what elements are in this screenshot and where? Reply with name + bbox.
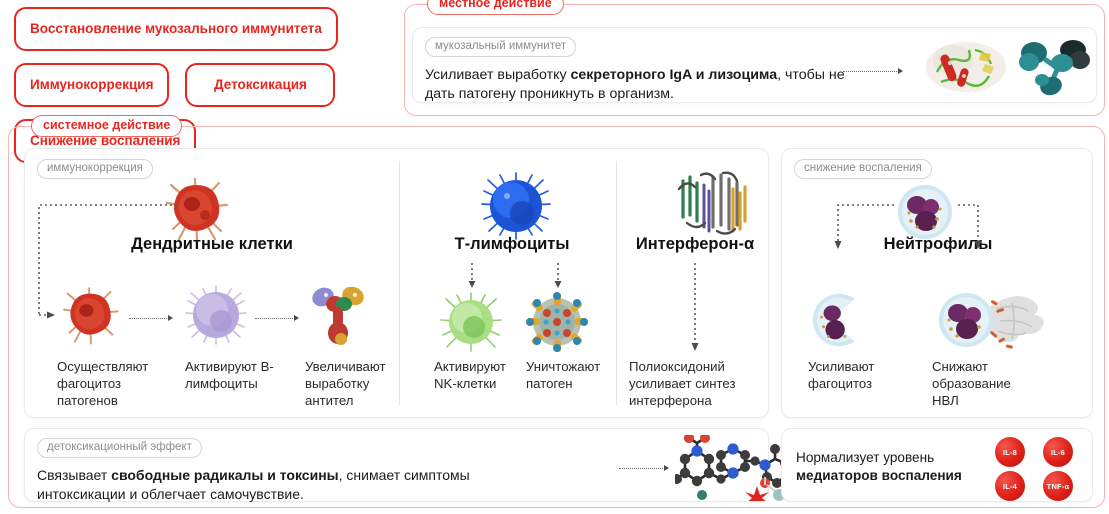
mucosal-immunity-description: Усиливает выработку секреторного IgA и л… xyxy=(425,66,855,104)
interferon-molecule-icon xyxy=(673,169,751,239)
dendritic-cell-step-icon xyxy=(57,282,123,348)
pill-mucosal-immunity-restoration[interactable]: Восстановление мукозального иммунитета xyxy=(14,7,338,51)
inflammation-mediators-card: Нормализует уровень медиаторов воспалени… xyxy=(781,428,1093,502)
iga-antibody-molecule-icon xyxy=(1016,36,1092,98)
column-divider-2 xyxy=(616,161,617,405)
badge-il8[interactable]: IL-8 xyxy=(995,437,1025,467)
interferon-title: Интерферон-α xyxy=(625,235,765,254)
t-lymphocytes-title: Т-лимфоциты xyxy=(409,235,615,254)
arrow-to-molecules xyxy=(843,68,903,74)
text-bold: секреторного IgA и лизоцима xyxy=(571,67,778,83)
cytokine-badge-group: IL-8 IL-6 IL-4 TNF-α xyxy=(988,437,1080,501)
lysozyme-molecule-icon xyxy=(923,38,1009,96)
local-action-legend: местное действие xyxy=(427,0,564,15)
arrow-interferon-down xyxy=(688,263,702,355)
text-before: Усиливает выработку xyxy=(425,67,571,83)
t-step-caption-1: Активируют NK-клетки xyxy=(434,358,526,392)
neutrophil-net-icon xyxy=(934,287,1046,353)
system-action-legend: системное действие xyxy=(31,115,182,137)
tag-detox-effect: детоксикационный эффект xyxy=(37,438,202,458)
mediators-text-regular: Нормализует уровень xyxy=(796,450,934,465)
antibody-icon xyxy=(309,283,367,347)
dendritic-step-caption-3: Увеличивают выработку антител xyxy=(305,358,401,409)
detox-text-before: Связывает xyxy=(37,467,111,483)
detoxification-card: детоксикационный эффект Связывает свобод… xyxy=(24,428,769,502)
t-lymphocyte-icon xyxy=(480,171,552,241)
inflammation-reduction-card: снижение воспаления Нейтрофилы xyxy=(781,148,1093,418)
b-lymphocyte-icon xyxy=(183,283,249,347)
badge-il6[interactable]: IL-6 xyxy=(1043,437,1073,467)
arrow-dendritic-to-bcell xyxy=(129,315,173,321)
pill-immunocorrection[interactable]: Иммунокоррекция xyxy=(14,63,169,107)
mediators-description: Нормализует уровень медиаторов воспалени… xyxy=(796,449,986,486)
badge-tnfa[interactable]: TNF-α xyxy=(1043,471,1073,501)
arrow-to-detox-molecule xyxy=(619,465,669,471)
mucosal-immunity-card: мукозальный иммунитет Усиливает выработк… xyxy=(412,27,1097,103)
neutrophil-phagocytosis-icon xyxy=(808,289,870,351)
pill-detoxification[interactable]: Детоксикация xyxy=(185,63,335,107)
t-step-caption-2: Уничтожают патоген xyxy=(526,358,614,392)
neutrophil-step-caption-1: Усиливают фагоцитоз xyxy=(808,358,904,392)
virus-icon xyxy=(525,291,589,353)
interferon-caption: Полиоксидоний усиливает синтез интерферо… xyxy=(629,358,759,409)
arrow-t-to-virus xyxy=(551,263,565,291)
dendritic-step-caption-2: Активируют В-лимфоциты xyxy=(185,358,289,392)
immunocorrection-card: иммунокоррекция Дендритные клетки xyxy=(24,148,769,418)
dendritic-step-caption-1: Осуществляют фагоцитоз патогенов xyxy=(57,358,161,409)
tag-mucosal-immunity: мукозальный иммунитет xyxy=(425,37,576,57)
nk-cell-icon xyxy=(439,291,503,353)
detox-description: Связывает свободные радикалы и токсины, … xyxy=(37,466,507,504)
mediators-text-bold: медиаторов воспаления xyxy=(796,468,962,483)
neutrophil-step-caption-2: Снижают образование НВЛ xyxy=(932,358,1038,409)
arrow-bcell-to-antibody xyxy=(255,315,299,321)
arrow-t-to-nk xyxy=(465,263,479,291)
detox-text-bold: свободные радикалы и токсины xyxy=(111,467,338,483)
badge-il4[interactable]: IL-4 xyxy=(995,471,1025,501)
